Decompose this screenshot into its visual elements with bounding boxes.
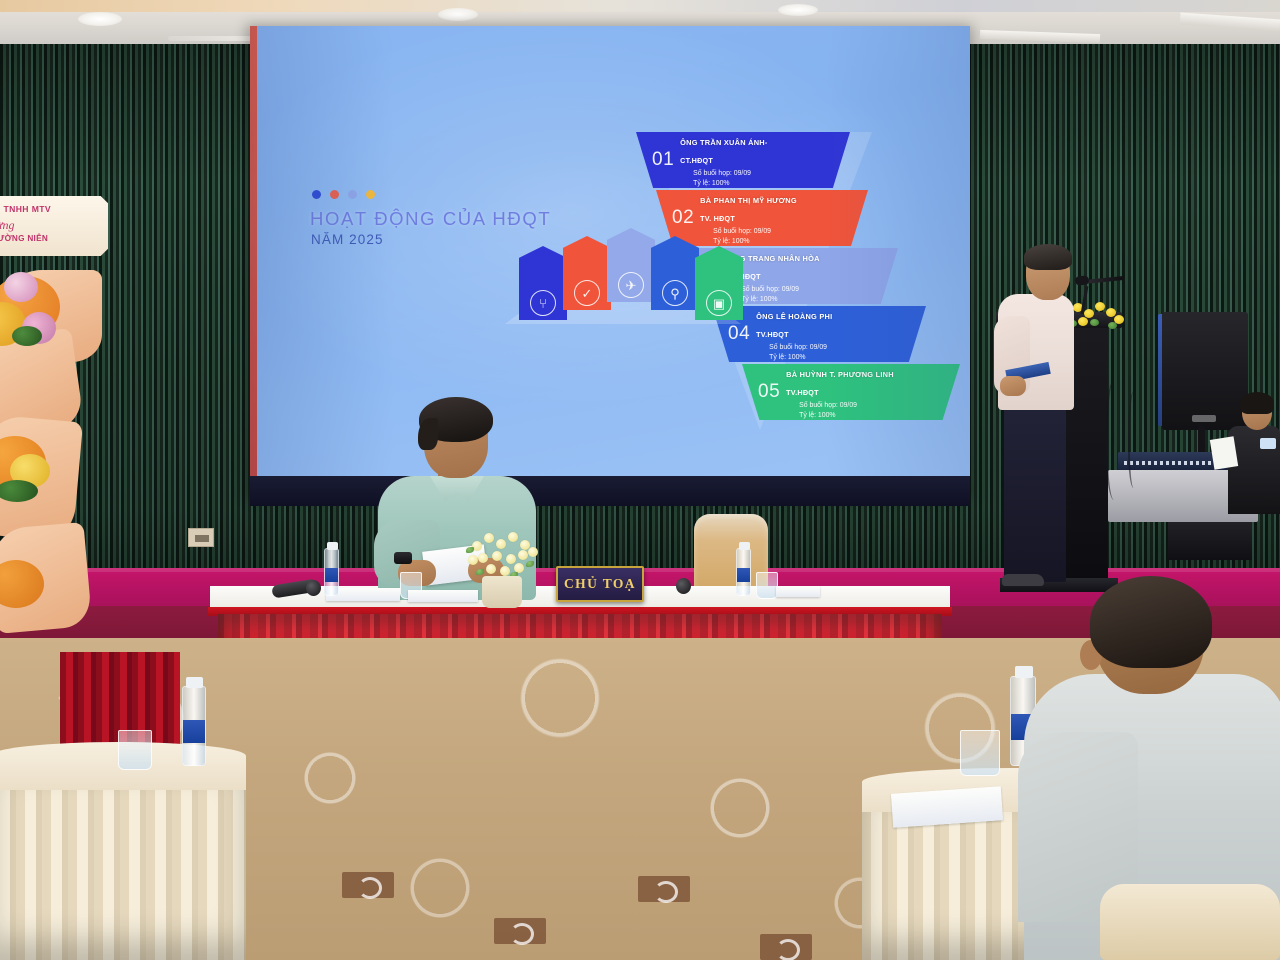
carpet-accent-square-2 [494,918,546,944]
head-table-documents-3 [776,586,820,597]
tech-hair [1240,392,1274,414]
water-bottle-left [324,548,339,596]
foreground-glass-right [960,730,1000,776]
nameplate-text: CHỦ TOẠ [564,576,636,592]
chairman-nameplate: CHỦ TOẠ [556,566,644,602]
head-table-documents-2 [408,590,478,602]
wall-power-outlet [188,528,214,547]
sign-line-1: H - TNHH MTV [0,204,51,214]
carpet-accent-square-1 [342,872,394,898]
screen-lower-frame [250,476,970,506]
foreground-glass-left [118,730,152,770]
congratulatory-flower-stand [0,268,118,628]
ceiling-warm-light-strip [0,0,1280,12]
flower-pot [482,576,522,608]
carpet-accent-square-4 [760,934,812,960]
tech-badge [1260,438,1276,449]
sign-line-3: THƯỜNG NIÊN [0,234,48,243]
conference-hall-photo: HOẠT ĐỘNG CỦA HĐQT NĂM 2025 01 ÔNG TRẦN … [0,0,1280,960]
table-flower-arrangement [466,529,540,583]
attendee-hair [1090,576,1212,668]
ceiling-light-2 [438,8,478,21]
flower-leaf-1 [12,326,42,346]
carpet-accent-square-3 [638,876,690,902]
table-microphone-head [306,580,321,596]
table-microphone-head-2 [676,578,691,594]
drinking-glass-right [756,572,778,599]
speaker-hand [1000,376,1026,396]
chairman-wristwatch [394,552,412,564]
speaker-trousers [1004,404,1066,582]
congratulation-sign: H - TNHH MTV ừng THƯỜNG NIÊN [0,196,108,256]
foreground-bottle-left [182,686,206,766]
projection-screen: HOẠT ĐỘNG CỦA HĐQT NĂM 2025 01 ÔNG TRẦN … [250,26,970,492]
chairman-sideburn [418,418,438,450]
av-technician [1228,394,1280,514]
foreground-table-left-skirt [0,790,246,960]
foreground-chair [1100,884,1280,960]
sign-line-2: ừng [0,218,15,233]
ceiling-light-3 [778,4,818,16]
av-cable [1106,380,1126,500]
podium-speaker [998,246,1076,586]
screen-vignette [250,26,970,492]
flower-cluster-2 [4,272,38,302]
speaker-hair [1024,244,1072,270]
ceiling-light-1 [78,12,122,26]
av-cable-2 [1128,392,1142,488]
tech-paper [1210,436,1238,469]
water-bottle-right [736,548,751,596]
